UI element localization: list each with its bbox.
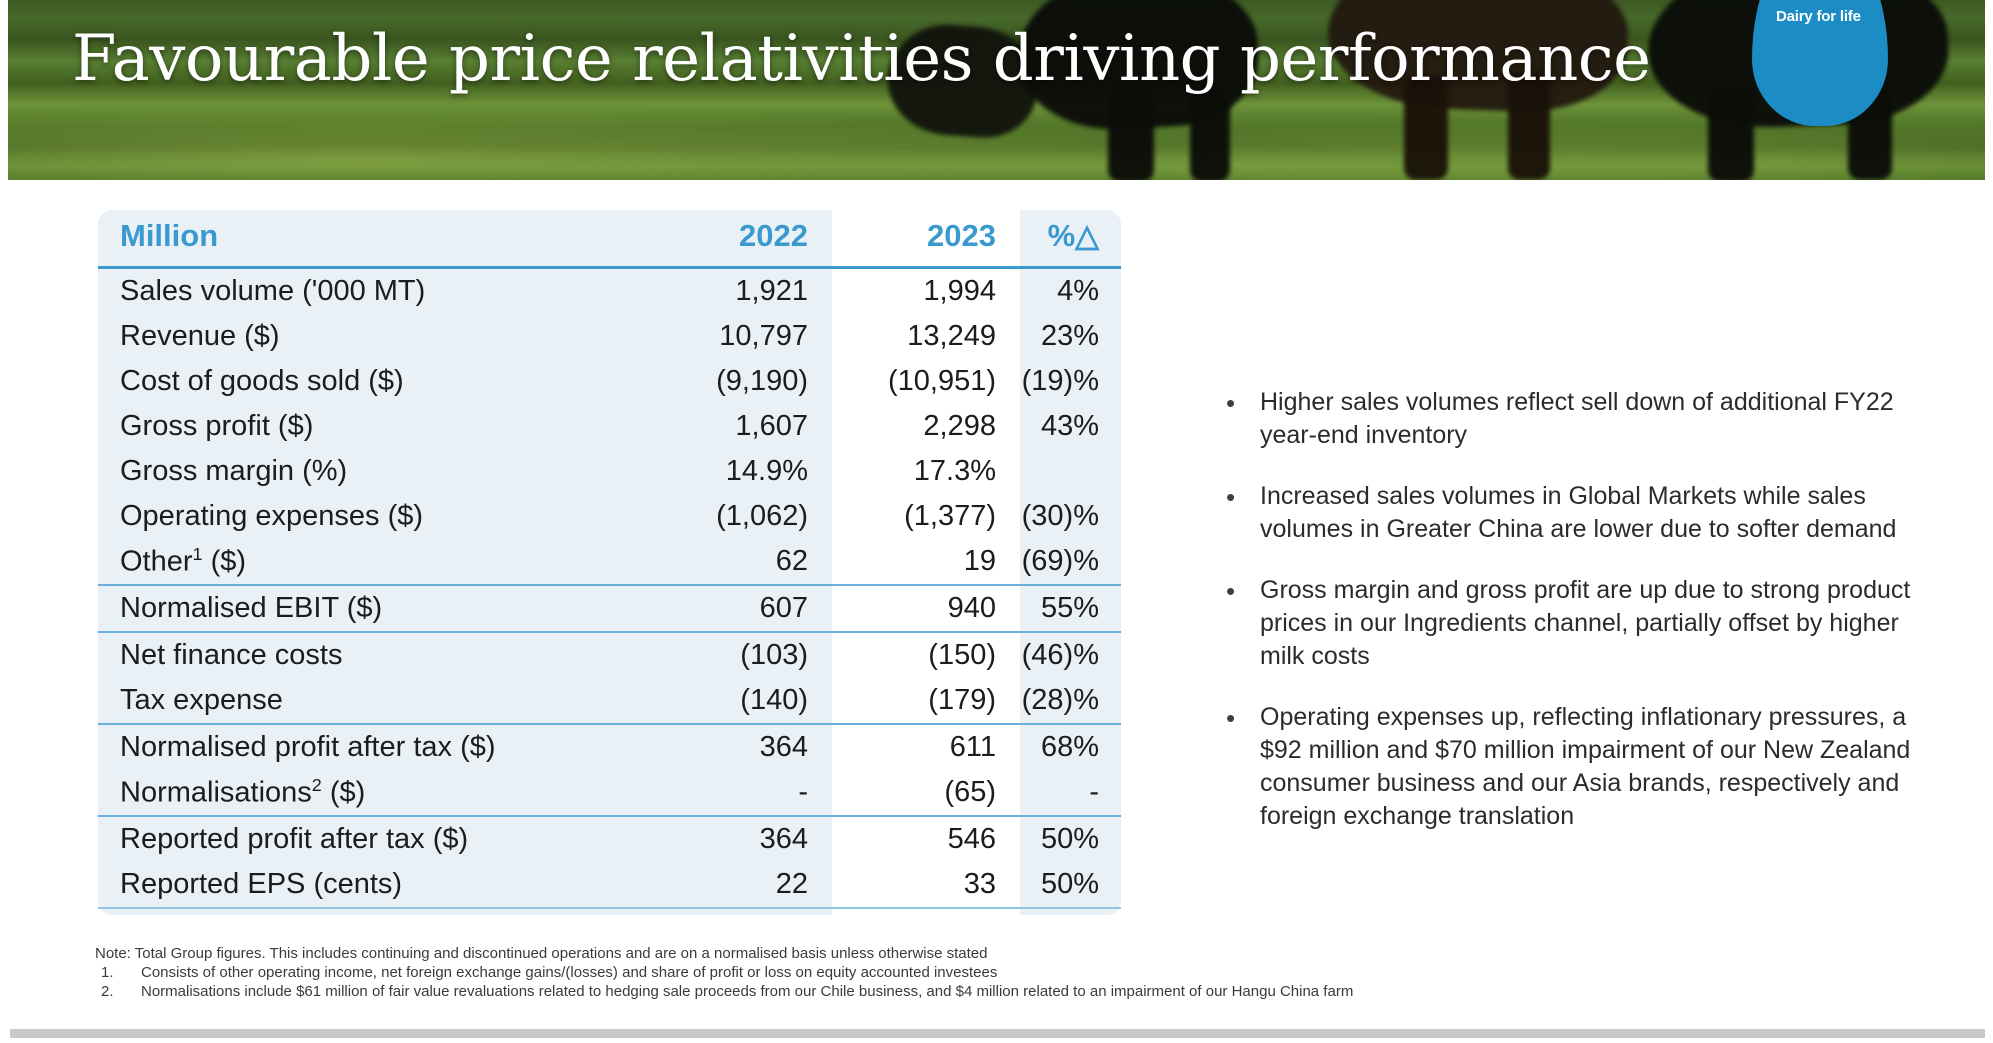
table-row: Net finance costs(103)(150)(46)% [98, 632, 1121, 678]
cell-pct-change: - [1020, 770, 1121, 816]
cell-2023: (150) [832, 632, 1020, 678]
table-header-row: Million 2022 2023 %△ [98, 210, 1121, 268]
cell-2023: 17.3% [832, 449, 1020, 494]
table-row: Normalisations2 ($)-(65)- [98, 770, 1121, 816]
footnotes: Note: Total Group figures. This includes… [95, 944, 1895, 1001]
cell-2022: 1,921 [622, 268, 832, 315]
cell-pct-change: 23% [1020, 314, 1121, 359]
cell-2023: 546 [832, 816, 1020, 862]
cell-2022: (140) [622, 678, 832, 724]
commentary-list: •Higher sales volumes reflect sell down … [1222, 386, 1912, 861]
row-label: Operating expenses ($) [98, 494, 622, 539]
cell-2022: 364 [622, 816, 832, 862]
financials-table: Million 2022 2023 %△ Sales volume ('000 … [98, 210, 1121, 909]
row-label: Gross profit ($) [98, 404, 622, 449]
row-label: Sales volume ('000 MT) [98, 268, 622, 315]
cow-leg [1190, 88, 1230, 180]
cell-2022: 14.9% [622, 449, 832, 494]
cell-pct-change: 68% [1020, 724, 1121, 770]
cell-2023: 13,249 [832, 314, 1020, 359]
cell-pct-change: 55% [1020, 585, 1121, 632]
column-header-2022: 2022 [622, 210, 832, 268]
cell-2022: (1,062) [622, 494, 832, 539]
cell-pct-change: (28)% [1020, 678, 1121, 724]
cell-pct-change: 50% [1020, 862, 1121, 908]
cell-2022: 364 [622, 724, 832, 770]
list-item: •Higher sales volumes reflect sell down … [1222, 386, 1912, 452]
column-header-2023: 2023 [832, 210, 1020, 268]
footnote-note: Note: Total Group figures. This includes… [95, 944, 1895, 963]
row-label: Other1 ($) [98, 539, 622, 585]
table-row: Revenue ($)10,79713,24923% [98, 314, 1121, 359]
list-item-text: Higher sales volumes reflect sell down o… [1260, 386, 1912, 452]
table-row: Normalised profit after tax ($)36461168% [98, 724, 1121, 770]
cell-pct-change: 43% [1020, 404, 1121, 449]
cell-2023: (10,951) [832, 359, 1020, 404]
row-label: Cost of goods sold ($) [98, 359, 622, 404]
cell-pct-change: (30)% [1020, 494, 1121, 539]
page-title: Favourable price relativities driving pe… [72, 26, 1472, 93]
row-label: Normalised EBIT ($) [98, 585, 622, 632]
cell-2023: 611 [832, 724, 1020, 770]
row-label: Gross margin (%) [98, 449, 622, 494]
bullet-dot-icon: • [1222, 574, 1260, 608]
table-row: Other1 ($)6219(69)% [98, 539, 1121, 585]
cell-pct-change: 4% [1020, 268, 1121, 315]
cell-2022: 62 [622, 539, 832, 585]
row-label: Net finance costs [98, 632, 622, 678]
list-item: •Increased sales volumes in Global Marke… [1222, 480, 1912, 546]
row-label: Revenue ($) [98, 314, 622, 359]
table-row: Gross margin (%)14.9%17.3% [98, 449, 1121, 494]
column-header-pct: %△ [1020, 210, 1121, 268]
row-label: Normalisations2 ($) [98, 770, 622, 816]
cell-2022: - [622, 770, 832, 816]
row-label: Reported EPS (cents) [98, 862, 622, 908]
cell-2023: (1,377) [832, 494, 1020, 539]
cell-2023: 33 [832, 862, 1020, 908]
list-item-text: Increased sales volumes in Global Market… [1260, 480, 1912, 546]
footnote-number: 1. [95, 963, 141, 982]
cell-2022: 1,607 [622, 404, 832, 449]
cell-pct-change [1020, 449, 1121, 494]
financials-panel: Million 2022 2023 %△ Sales volume ('000 … [98, 210, 1121, 915]
list-item-text: Operating expenses up, reflecting inflat… [1260, 701, 1912, 833]
bottom-bar [10, 1029, 1985, 1038]
cell-2022: (9,190) [622, 359, 832, 404]
table-row: Tax expense(140)(179)(28)% [98, 678, 1121, 724]
table-row: Gross profit ($)1,6072,29843% [98, 404, 1121, 449]
cow-leg [1108, 86, 1154, 180]
cell-2023: 940 [832, 585, 1020, 632]
cell-pct-change: (46)% [1020, 632, 1121, 678]
cell-2023: 1,994 [832, 268, 1020, 315]
bullet-dot-icon: • [1222, 386, 1260, 420]
footnote-text: Normalisations include $61 million of fa… [141, 982, 1895, 1001]
cell-2023: (179) [832, 678, 1020, 724]
table-row: Reported profit after tax ($)36454650% [98, 816, 1121, 862]
cell-pct-change: (69)% [1020, 539, 1121, 585]
footnote-number: 2. [95, 982, 141, 1001]
right-edge [1985, 0, 1993, 1043]
cell-2023: 2,298 [832, 404, 1020, 449]
bullet-dot-icon: • [1222, 701, 1260, 735]
cell-pct-change: 50% [1020, 816, 1121, 862]
cell-pct-change: (19)% [1020, 359, 1121, 404]
list-item-text: Gross margin and gross profit are up due… [1260, 574, 1912, 673]
cell-2022: 10,797 [622, 314, 832, 359]
row-label: Tax expense [98, 678, 622, 724]
cow-leg [1708, 86, 1754, 180]
cell-2023: (65) [832, 770, 1020, 816]
slide: Dairy for life Favourable price relativi… [0, 0, 1993, 1043]
footnote-text: Consists of other operating income, net … [141, 963, 1895, 982]
table-row: Normalised EBIT ($)60794055% [98, 585, 1121, 632]
footnote-item: 1.Consists of other operating income, ne… [95, 963, 1895, 982]
row-label: Reported profit after tax ($) [98, 816, 622, 862]
cell-2022: 607 [622, 585, 832, 632]
table-row: Sales volume ('000 MT)1,9211,9944% [98, 268, 1121, 315]
logo-tagline: Dairy for life [1776, 8, 1916, 25]
cell-2023: 19 [832, 539, 1020, 585]
list-item: •Gross margin and gross profit are up du… [1222, 574, 1912, 673]
table-row: Operating expenses ($)(1,062)(1,377)(30)… [98, 494, 1121, 539]
list-item: •Operating expenses up, reflecting infla… [1222, 701, 1912, 833]
row-label: Normalised profit after tax ($) [98, 724, 622, 770]
column-header-label: Million [98, 210, 622, 268]
cell-2022: 22 [622, 862, 832, 908]
footnote-item: 2.Normalisations include $61 million of … [95, 982, 1895, 1001]
bullet-dot-icon: • [1222, 480, 1260, 514]
table-row: Reported EPS (cents)223350% [98, 862, 1121, 908]
cell-2022: (103) [622, 632, 832, 678]
table-row: Cost of goods sold ($)(9,190)(10,951)(19… [98, 359, 1121, 404]
